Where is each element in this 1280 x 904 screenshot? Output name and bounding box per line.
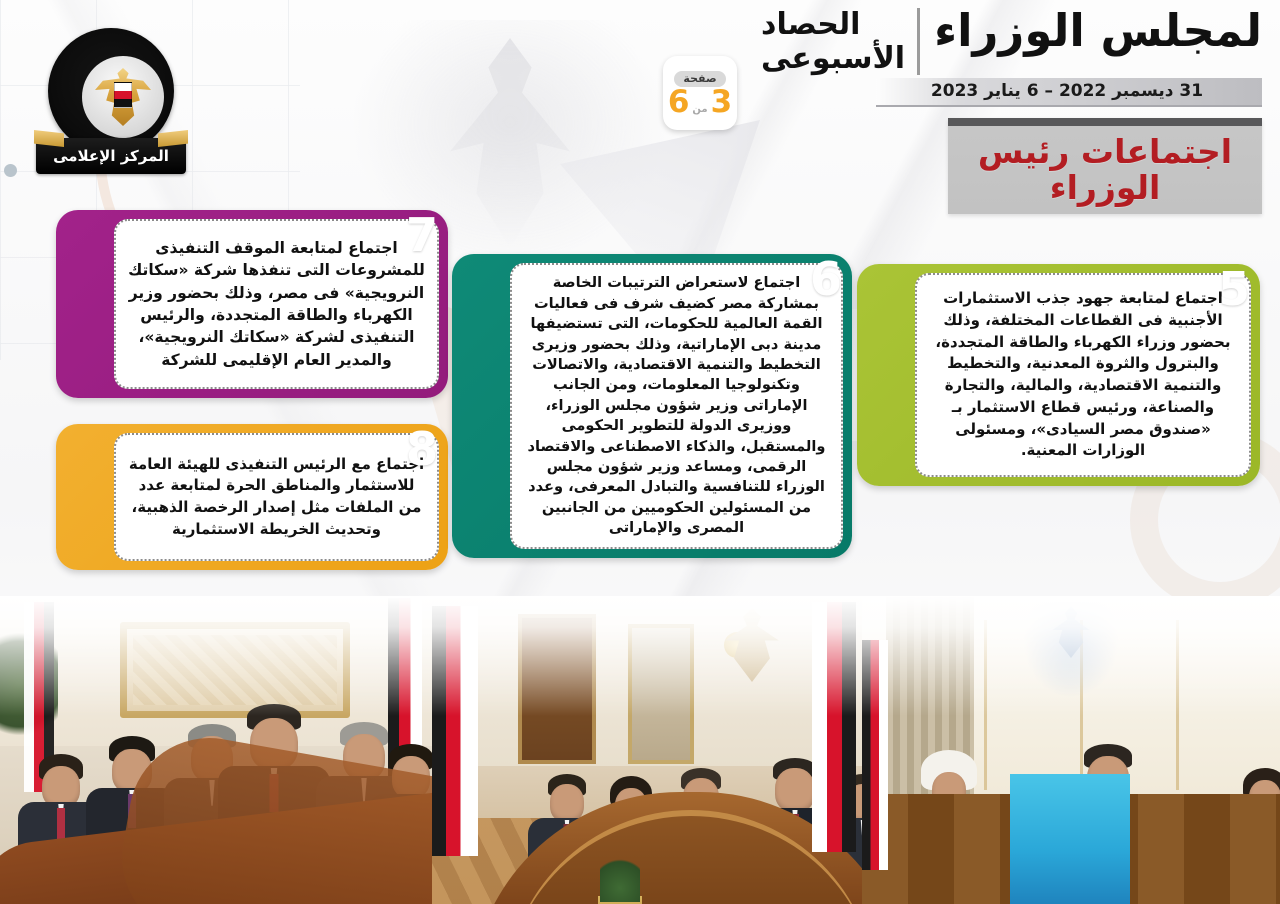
egypt-flag-shield-icon: [114, 82, 132, 108]
subtitle-line-2: الأسبوعى: [761, 42, 905, 76]
logo-disc: [48, 28, 174, 154]
meeting-card-7[interactable]: 7 اجتماع لمتابعة الموقف التنفيذى للمشروع…: [56, 210, 448, 398]
page-badge-current: 3: [711, 87, 733, 118]
card-text-7: اجتماع لمتابعة الموقف التنفيذى للمشروعات…: [126, 237, 427, 372]
card-body-5: اجتماع لمتابعة جهود جذب الاستثمارات الأج…: [915, 273, 1251, 477]
photo-2-top-fade: [432, 596, 862, 716]
logo: المركز الإعلامى: [36, 22, 186, 182]
card-body-8: اجتماع مع الرئيس التنفيذى للهيئة العامة …: [114, 433, 439, 561]
card-body-6: اجتماع لاستعراض الترتيبات الخاصة بمشاركة…: [510, 263, 843, 549]
meeting-card-8[interactable]: 8 اجتماع مع الرئيس التنفيذى للهيئة العام…: [56, 424, 448, 570]
potted-plant: [598, 896, 642, 904]
card-number-8: 8: [406, 426, 438, 472]
photo-foreign-investment-meeting: اجتماع لمتابعة جهود جذب الاستثمارات الأج…: [432, 596, 862, 904]
card-text-8: اجتماع مع الرئيس التنفيذى للهيئة العامة …: [126, 454, 427, 541]
card-body-7: اجتماع لمتابعة الموقف التنفيذى للمشروعات…: [114, 219, 439, 389]
blue-backdrop: [1010, 774, 1130, 904]
infographic-page: المركز الإعلامى لمجلس الوزراء الحصاد الأ…: [0, 0, 1280, 904]
card-text-5: اجتماع لمتابعة جهود جذب الاستثمارات الأج…: [927, 288, 1239, 462]
date-range: 31 ديسمبر 2022 – 6 يناير 2023: [876, 78, 1262, 107]
page-subtitle: الحصاد الأسبوعى: [761, 8, 920, 75]
page-badge-of: من: [692, 104, 707, 115]
photo-world-government-summit-meeting: اجتماع لاستعراض الترتيبات الخاصة بمشاركة…: [862, 596, 1280, 904]
photo-1-top-fade: [0, 596, 432, 716]
page-badge-total: 6: [668, 87, 690, 118]
card-number-7: 7: [406, 212, 438, 258]
page-number-badge: صفحة 3 من 6: [663, 56, 737, 130]
meeting-card-6[interactable]: 6 اجتماع لاستعراض الترتيبات الخاصة بمشار…: [452, 254, 852, 558]
subtitle-line-1: الحصاد: [761, 8, 905, 42]
card-number-6: 6: [810, 256, 842, 302]
photo-skatec-meeting: اجتماع لمتابعة الموقف التنفيذى للمشروعات…: [0, 596, 432, 904]
page-badge-numbers: 3 من 6: [668, 87, 732, 118]
card-text-6: اجتماع لاستعراض الترتيبات الخاصة بمشاركة…: [522, 273, 831, 538]
section-title: اجتماعات رئيس الوزراء: [948, 134, 1262, 205]
photo-3-top-fade: [862, 596, 1280, 716]
logo-banner: المركز الإعلامى: [36, 138, 186, 174]
photo-strip: اجتماع لمتابعة الموقف التنفيذى للمشروعات…: [0, 596, 1280, 904]
title-block: لمجلس الوزراء الحصاد الأسبوعى 31 ديسمبر …: [761, 8, 1262, 107]
section-header: اجتماعات رئيس الوزراء: [948, 118, 1262, 214]
meeting-card-5[interactable]: 5 اجتماع لمتابعة جهود جذب الاستثمارات ال…: [857, 264, 1260, 486]
card-number-5: 5: [1218, 266, 1250, 312]
page-title: لمجلس الوزراء: [934, 8, 1262, 54]
page-header: المركز الإعلامى لمجلس الوزراء الحصاد الأ…: [0, 0, 1280, 215]
logo-banner-label: المركز الإعلامى: [53, 147, 169, 165]
